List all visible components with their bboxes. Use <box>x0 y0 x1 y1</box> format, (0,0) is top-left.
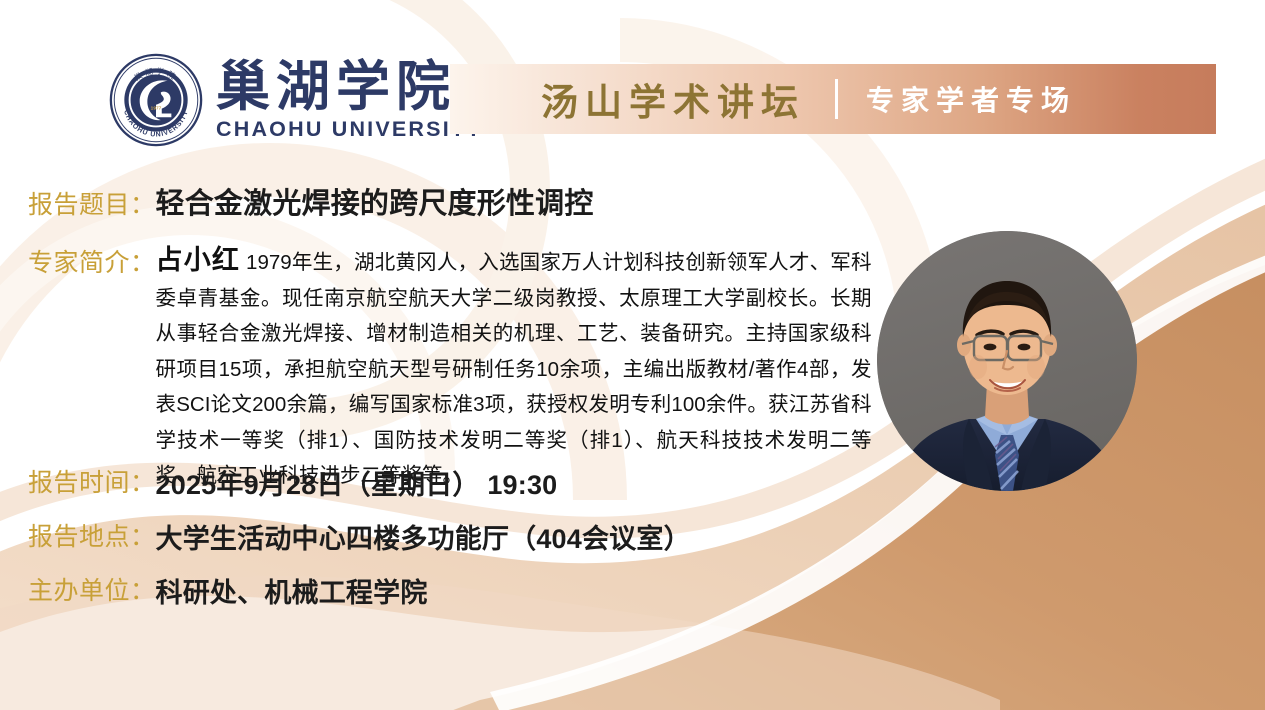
lecture-time-label: 报告时间： <box>28 463 156 499</box>
lecture-title-label: 报告题目： <box>28 185 156 221</box>
speaker-bio-paragraph: 1979年生，湖北黄冈人，入选国家万人计划科技创新领军人才、军科委卓青基金。现任… <box>156 251 872 487</box>
lecture-host-row: 主办单位： 科研处、机械工程学院 <box>28 571 428 610</box>
lecture-title-row: 报告题目： 轻合金激光焊接的跨尺度形性调控 <box>28 180 594 222</box>
speaker-bio-text: 占小红 1979年生，湖北黄冈人，入选国家万人计划科技创新领军人才、军科委卓青基… <box>156 243 872 494</box>
lecture-place-row: 报告地点： 大学生活动中心四楼多功能厅（404会议室） <box>28 517 691 556</box>
lecture-host-label: 主办单位： <box>28 571 156 607</box>
lecture-place-value: 大学生活动中心四楼多功能厅（404会议室） <box>156 517 691 556</box>
speaker-bio-label: 专家简介： <box>28 243 156 279</box>
speaker-bio-row: 专家简介： 占小红 1979年生，湖北黄冈人，入选国家万人计划科技创新领军人才、… <box>28 243 872 494</box>
speaker-portrait-image <box>877 231 1137 491</box>
lecture-time-value: 2025年9月28日（星期日） 19:30 <box>156 463 558 502</box>
speaker-portrait <box>877 231 1137 491</box>
lecture-title-value: 轻合金激光焊接的跨尺度形性调控 <box>156 180 594 222</box>
lecture-place-label: 报告地点： <box>28 517 156 553</box>
speaker-name: 占小红 <box>156 245 241 275</box>
lecture-time-row: 报告时间： 2025年9月28日（星期日） 19:30 <box>28 463 557 502</box>
lecture-host-value: 科研处、机械工程学院 <box>156 571 428 610</box>
lecture-poster: 1977 CHAOHU UNIVERSITY 巢湖学院 巢湖学院 CHAOHU … <box>0 0 1265 710</box>
